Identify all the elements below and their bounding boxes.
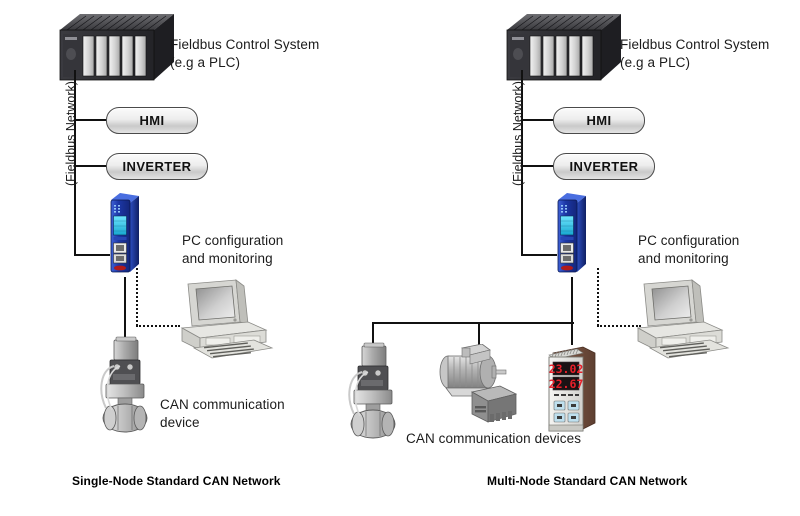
plc-label-2: Fieldbus Control System (e.g a PLC) (620, 36, 800, 72)
pc-workstation-2 (634, 278, 730, 360)
node-inverter-label-2: INVERTER (570, 159, 639, 174)
valve-actuator-2 (340, 342, 406, 442)
can-bus-line (372, 322, 574, 324)
gateway-to-canbus-wire (571, 277, 573, 345)
inverter-branch-wire-2 (521, 165, 553, 167)
digital-controller: 23.02 22.67 (543, 345, 599, 437)
gateway-pc-dotted-vertical-2 (597, 268, 599, 326)
diagram-canvas: Fieldbus Control System (e.g a PLC) (Fie… (0, 0, 800, 516)
meter-top-value: 23.02 (549, 362, 584, 376)
hmi-branch-wire-2 (521, 119, 553, 121)
can-gateway-2 (555, 190, 589, 278)
panel-multi-node: Fieldbus Control System (e.g a PLC) (Fie… (0, 0, 800, 516)
panel-caption-multi: Multi-Node Standard CAN Network (487, 474, 687, 488)
node-inverter-2[interactable]: INVERTER (553, 153, 655, 180)
gateway-uplink-wire-2 (521, 254, 557, 256)
node-hmi-2[interactable]: HMI (553, 107, 645, 134)
can-devices-label: CAN communication devices (406, 430, 656, 448)
pc-label-2: PC configuration and monitoring (638, 232, 798, 268)
motor-drive (432, 344, 524, 426)
meter-bottom-value: 22.67 (549, 377, 584, 391)
node-hmi-label-2: HMI (586, 113, 611, 128)
